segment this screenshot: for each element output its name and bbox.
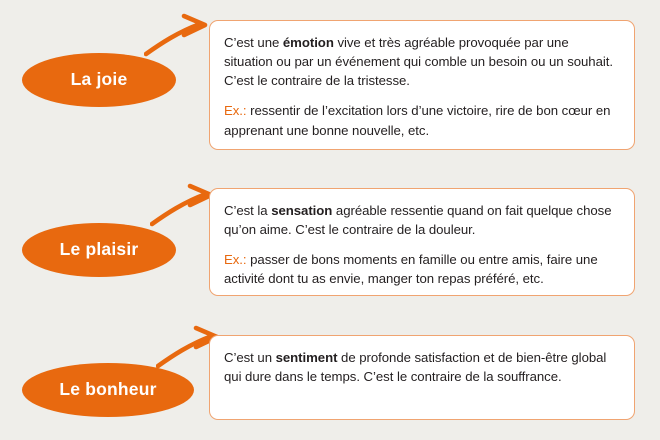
example-paragraph: Ex.: ressentir de l’excitation lors d’un… (224, 101, 620, 139)
definition-keyword: sentiment (276, 350, 338, 365)
definition-card-bonheur: C’est un sentiment de profonde satisfact… (209, 335, 635, 420)
concept-bubble-plaisir: Le plaisir (22, 223, 176, 277)
definition-lead: C’est la (224, 203, 271, 218)
concept-bubble-label: Le plaisir (60, 241, 139, 259)
concept-bubble-label: Le bonheur (59, 381, 156, 399)
example-paragraph: Ex.: passer de bons moments en famille o… (224, 250, 620, 288)
definition-keyword: sensation (271, 203, 332, 218)
example-text: ressentir de l’excitation lors d’une vic… (224, 103, 610, 137)
definition-paragraph: C’est un sentiment de profonde satisfact… (224, 348, 620, 386)
concept-row-joie: La joie C’est une émotion vive et très a… (0, 0, 660, 170)
concept-bubble-joie: La joie (22, 53, 176, 107)
concept-bubble-label: La joie (71, 71, 128, 89)
definition-paragraph: C’est la sensation agréable ressentie qu… (224, 201, 620, 239)
definition-card-joie: C’est une émotion vive et très agréable … (209, 20, 635, 150)
concept-bubble-bonheur: Le bonheur (22, 363, 194, 417)
definition-lead: C’est une (224, 35, 283, 50)
concept-row-plaisir: Le plaisir C’est la sensation agréable r… (0, 170, 660, 310)
definition-card-plaisir: C’est la sensation agréable ressentie qu… (209, 188, 635, 296)
concept-row-bonheur: Le bonheur C’est un sentiment de profond… (0, 310, 660, 440)
curved-arrow-right-icon (144, 10, 214, 63)
definition-paragraph: C’est une émotion vive et très agréable … (224, 33, 620, 90)
example-tag: Ex.: (224, 252, 247, 267)
infographic-canvas: La joie C’est une émotion vive et très a… (0, 0, 660, 440)
definition-lead: C’est un (224, 350, 276, 365)
example-tag: Ex.: (224, 103, 247, 118)
example-text: passer de bons moments en famille ou ent… (224, 252, 598, 286)
definition-keyword: émotion (283, 35, 334, 50)
